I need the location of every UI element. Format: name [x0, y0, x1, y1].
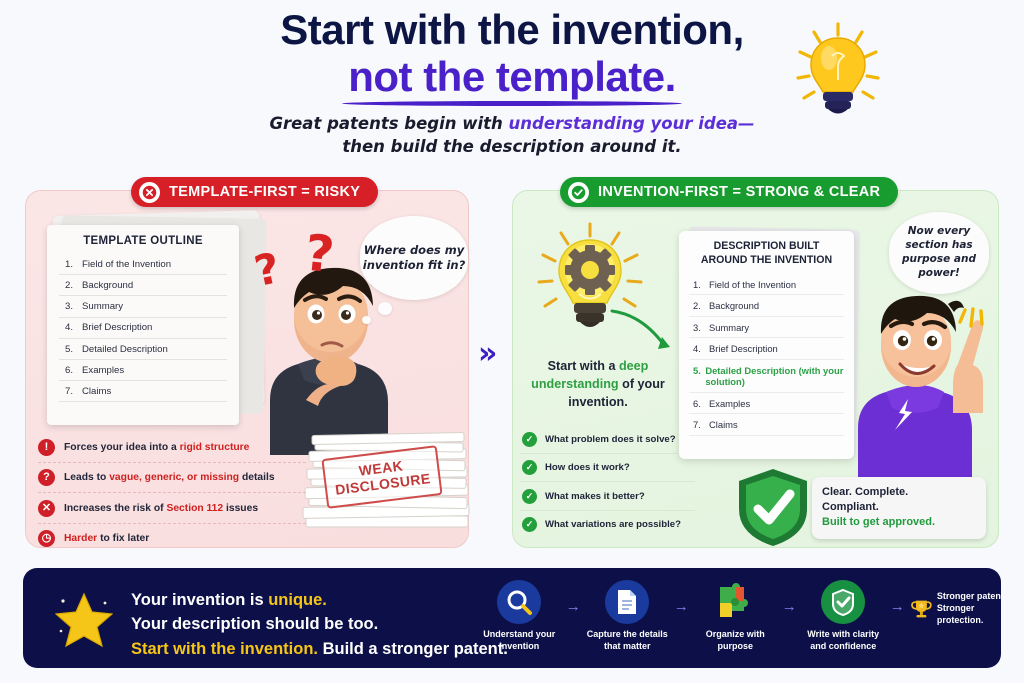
risk-text: Leads to vague, generic, or missing deta… — [64, 472, 275, 483]
process-step: Organize with purpose — [694, 580, 776, 653]
row-number: 7. — [693, 419, 709, 430]
process-step: Write with clarity and confidence — [802, 580, 884, 653]
row-number: 5. — [693, 365, 705, 387]
check-circle-icon: ✓ — [522, 460, 537, 475]
trophy-icon — [910, 586, 933, 632]
row-label: Claims — [82, 386, 111, 397]
banner-line1-pre: Your invention is — [131, 591, 268, 609]
banner-line-3: Start with the invention. Build a strong… — [131, 637, 508, 661]
row-number: 5. — [65, 344, 82, 355]
description-outline-row: 2. Background — [689, 295, 844, 317]
lightbulb-icon — [788, 20, 888, 125]
thought-bubble-dot — [378, 302, 392, 315]
process-step-label: Organize with purpose — [694, 629, 776, 653]
row-number: 3. — [693, 322, 709, 333]
template-outline-title: TEMPLATE OUTLINE — [59, 235, 227, 247]
description-outline-row: 6. Examples — [689, 393, 844, 415]
template-outline-card: TEMPLATE OUTLINE 1. Field of the Inventi… — [47, 225, 239, 425]
question-label: What problem does it solve? — [545, 434, 676, 445]
row-label: Detailed Description — [82, 344, 168, 355]
template-outline-row: 3. Summary — [59, 296, 227, 317]
row-label: Brief Description — [82, 322, 152, 333]
process-step-label: Understand your invention — [478, 629, 560, 653]
row-number: 3. — [65, 301, 82, 312]
risk-text: Forces your idea into a rigid structure — [64, 442, 249, 453]
banner-text-block: Your invention is unique. Your descripti… — [131, 588, 508, 661]
question-label: What variations are possible? — [545, 519, 681, 530]
x-circle-icon — [139, 182, 160, 203]
template-outline-row: 2. Background — [59, 275, 227, 296]
template-outline-row: 6. Examples — [59, 360, 227, 381]
question-row: ✓ What makes it better? — [520, 482, 695, 511]
banner-line-1: Your invention is unique. — [131, 588, 508, 612]
row-number: 6. — [65, 365, 82, 376]
callout-line-3: Built to get approved. — [822, 515, 976, 530]
magnifier-icon — [497, 580, 541, 624]
subtitle-part-b: then build the description around it. — [342, 137, 681, 156]
thought-bubble-left: Where does my invention fit in? — [360, 216, 468, 300]
process-steps: Understand your invention → Capture the … — [478, 580, 1001, 658]
row-label: Claims — [709, 419, 738, 430]
risk-row: ✕ Increases the risk of Section 112 issu… — [38, 493, 306, 524]
row-label: Summary — [709, 322, 749, 333]
row-label: Brief Description — [709, 343, 778, 354]
document-icon — [605, 580, 649, 624]
check-circle-icon — [568, 182, 589, 203]
risk-text: Harder to fix later — [64, 533, 149, 544]
description-outline-row: 1. Field of the Invention — [689, 274, 844, 296]
start-with-understanding-text: Start with a deep understanding of your … — [528, 358, 668, 412]
question-circle-icon: ? — [38, 469, 55, 486]
subtitle-highlight: understanding your idea— — [509, 114, 755, 133]
bottom-banner: Your invention is unique. Your descripti… — [23, 568, 1001, 668]
left-panel-badge: TEMPLATE-FIRST = RISKY — [131, 177, 378, 207]
risk-row: ◷ Harder to fix later — [38, 524, 306, 554]
process-step-label: Write with clarity and confidence — [802, 629, 884, 653]
start-text-pre: Start with a — [548, 359, 619, 373]
description-outline-title: DESCRIPTION BUILT AROUND THE INVENTION — [689, 240, 844, 268]
result-callout: Clear. Complete. Compliant. Built to get… — [812, 477, 986, 539]
risk-row: ! Forces your idea into a rigid structur… — [38, 432, 306, 463]
row-label: Background — [709, 300, 759, 311]
shield-check-icon — [734, 466, 812, 548]
start-text-mid: of — [619, 377, 638, 391]
description-outline-card: DESCRIPTION BUILT AROUND THE INVENTION 1… — [679, 231, 854, 459]
clock-circle-icon: ◷ — [38, 530, 55, 547]
banner-line3-highlight: Start with the invention. — [131, 640, 318, 658]
row-number: 1. — [693, 279, 709, 290]
question-checklist: ✓ What problem does it solve? ✓ How does… — [520, 425, 695, 538]
sparkle-icon — [955, 300, 989, 334]
question-row: ✓ What problem does it solve? — [520, 425, 695, 454]
risk-list: ! Forces your idea into a rigid structur… — [38, 432, 306, 553]
process-step-label: Stronger patents. Stronger protection. — [937, 591, 1001, 627]
row-number: 4. — [693, 343, 709, 354]
star-icon — [55, 591, 113, 647]
right-panel-badge: INVENTION-FIRST = STRONG & CLEAR — [560, 177, 898, 207]
description-outline-row-highlighted: 5. Detailed Description (with your solut… — [689, 360, 844, 393]
template-outline-row: 5. Detailed Description — [59, 339, 227, 360]
x-circle-icon: ✕ — [38, 500, 55, 517]
exclamation-circle-icon: ! — [38, 439, 55, 456]
infographic-page: Start with the invention, not the templa… — [0, 0, 1024, 683]
step-arrow-icon: → — [776, 580, 802, 615]
subtitle-part-a: Great patents begin with — [269, 114, 508, 133]
process-step-label: Capture the details that matter — [586, 629, 668, 653]
row-label: Field of the Invention — [82, 259, 171, 270]
row-label: Examples — [709, 398, 750, 409]
left-panel-badge-label: TEMPLATE-FIRST = RISKY — [169, 184, 360, 200]
thought-bubble-text: Where does my invention fit in? — [360, 243, 468, 273]
row-label: Field of the Invention — [709, 279, 796, 290]
question-label: What makes it better? — [545, 491, 645, 502]
question-mark-icon: ? — [302, 224, 337, 285]
template-outline-row: 7. Claims — [59, 381, 227, 402]
description-outline-row: 4. Brief Description — [689, 338, 844, 360]
row-label: Background — [82, 280, 133, 291]
question-label: How does it work? — [545, 462, 630, 473]
row-number: 2. — [65, 280, 82, 291]
row-label: Examples — [82, 365, 124, 376]
process-step: Understand your invention — [478, 580, 560, 653]
row-number: 2. — [693, 300, 709, 311]
thought-bubble-dot — [362, 316, 371, 324]
risk-text: Increases the risk of Section 112 issues — [64, 503, 258, 514]
template-outline-row: 4. Brief Description — [59, 318, 227, 339]
puzzle-icon — [713, 580, 757, 624]
shield-check-icon — [821, 580, 865, 624]
row-label: Summary — [82, 301, 123, 312]
row-number: 4. — [65, 322, 82, 333]
template-outline-row: 1. Field of the Invention — [59, 254, 227, 275]
check-circle-icon: ✓ — [522, 517, 537, 532]
check-circle-icon: ✓ — [522, 489, 537, 504]
banner-line-2: Your description should be too. — [131, 612, 508, 636]
desc-title-line1: DESCRIPTION BUILT — [714, 240, 820, 252]
check-circle-icon: ✓ — [522, 432, 537, 447]
step-arrow-icon: → — [668, 580, 694, 615]
double-chevron-right-icon: » — [478, 336, 491, 371]
process-step-final: Stronger patents. Stronger protection. — [910, 580, 1001, 632]
stamp-line-2: DISCLOSURE — [334, 471, 431, 498]
page-title-line2-text: not the template. — [348, 53, 676, 100]
row-number: 7. — [65, 386, 82, 397]
row-number: 1. — [65, 259, 82, 270]
description-outline-row: 3. Summary — [689, 317, 844, 339]
question-row: ✓ How does it work? — [520, 454, 695, 483]
row-label: Detailed Description (with your solution… — [705, 365, 844, 387]
callout-line-2: Compliant. — [822, 500, 976, 515]
title-underline — [342, 101, 682, 106]
desc-title-line2: AROUND THE INVENTION — [701, 254, 832, 266]
row-number: 6. — [693, 398, 709, 409]
step-arrow-icon: → — [560, 580, 586, 615]
step-arrow-icon: → — [884, 580, 910, 615]
description-outline-row: 7. Claims — [689, 414, 844, 436]
banner-line1-highlight: unique. — [268, 591, 327, 609]
callout-line-1: Clear. Complete. — [822, 485, 976, 500]
right-panel-badge-label: INVENTION-FIRST = STRONG & CLEAR — [598, 184, 880, 200]
process-step: Capture the details that matter — [586, 580, 668, 653]
risk-row: ? Leads to vague, generic, or missing de… — [38, 463, 306, 494]
page-title-line2: not the template. — [348, 54, 676, 100]
speech-bubble-text: Now every section has purpose and power! — [889, 225, 989, 280]
question-row: ✓ What variations are possible? — [520, 511, 695, 539]
